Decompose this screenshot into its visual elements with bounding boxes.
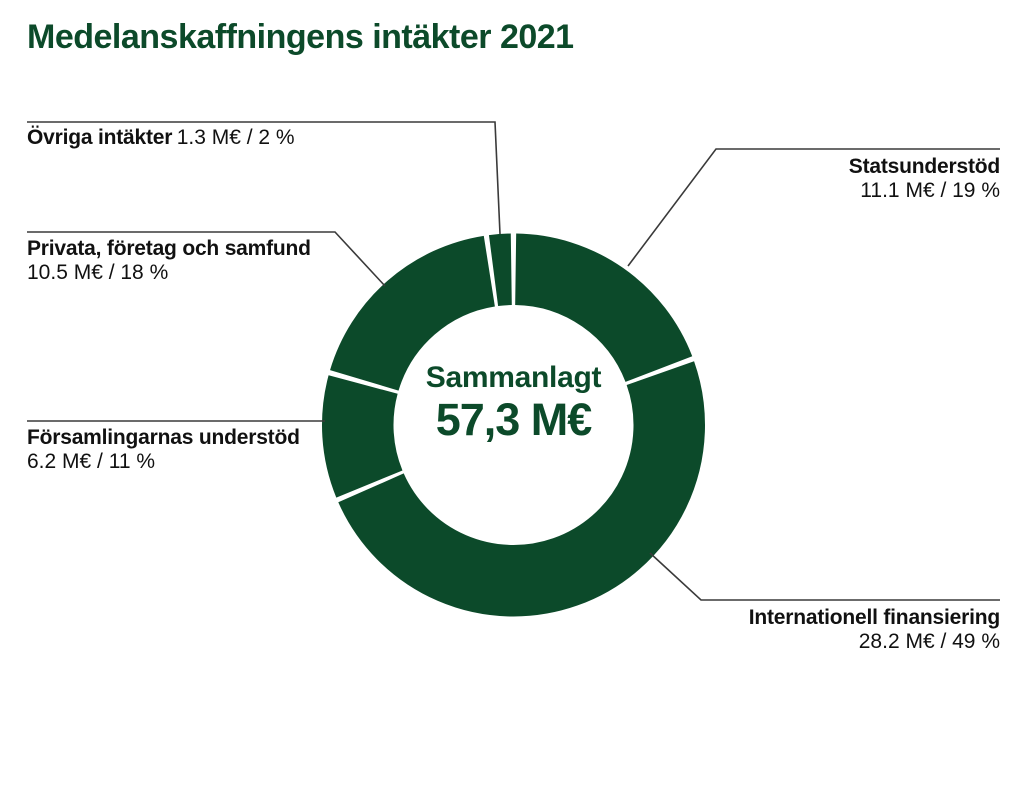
callout-forsamlingarnas-understod[interactable]: Församlingarnas understöd 6.2 M€ / 11 %	[27, 426, 347, 475]
callout-statsunderstod[interactable]: Statsunderstöd 11.1 M€ / 19 %	[680, 155, 1000, 204]
chart-root: Medelanskaffningens intäkter 2021 Samman…	[0, 0, 1024, 792]
callout-ovriga-name: Övriga intäkter	[27, 126, 172, 149]
callout-forsamlingarna-name: Församlingarnas understöd	[27, 426, 347, 450]
donut-center-title: Sammanlagt	[393, 362, 634, 394]
donut-center-value: 57,3 M€	[393, 396, 634, 443]
callout-internationell-value: 28.2 M€ / 49 %	[680, 630, 1000, 654]
callout-ovriga-intakter[interactable]: Övriga intäkter 1.3 M€ / 2 %	[27, 126, 497, 150]
callout-privata-value: 10.5 M€ / 18 %	[27, 261, 347, 285]
callout-privata-name: Privata, företag och samfund	[27, 237, 347, 261]
leader-line-internationell	[650, 553, 1000, 600]
callout-privata-foretag-samfund[interactable]: Privata, företag och samfund 10.5 M€ / 1…	[27, 237, 347, 286]
donut-center-label: Sammanlagt 57,3 M€	[393, 362, 634, 443]
callout-statsunderstod-name: Statsunderstöd	[680, 155, 1000, 179]
callout-forsamlingarna-value: 6.2 M€ / 11 %	[27, 450, 347, 474]
callout-internationell-finansiering[interactable]: Internationell finansiering 28.2 M€ / 49…	[680, 606, 1000, 655]
callout-statsunderstod-value: 11.1 M€ / 19 %	[680, 179, 1000, 203]
callout-internationell-name: Internationell finansiering	[680, 606, 1000, 630]
callout-ovriga-value: 1.3 M€ / 2 %	[177, 126, 295, 149]
